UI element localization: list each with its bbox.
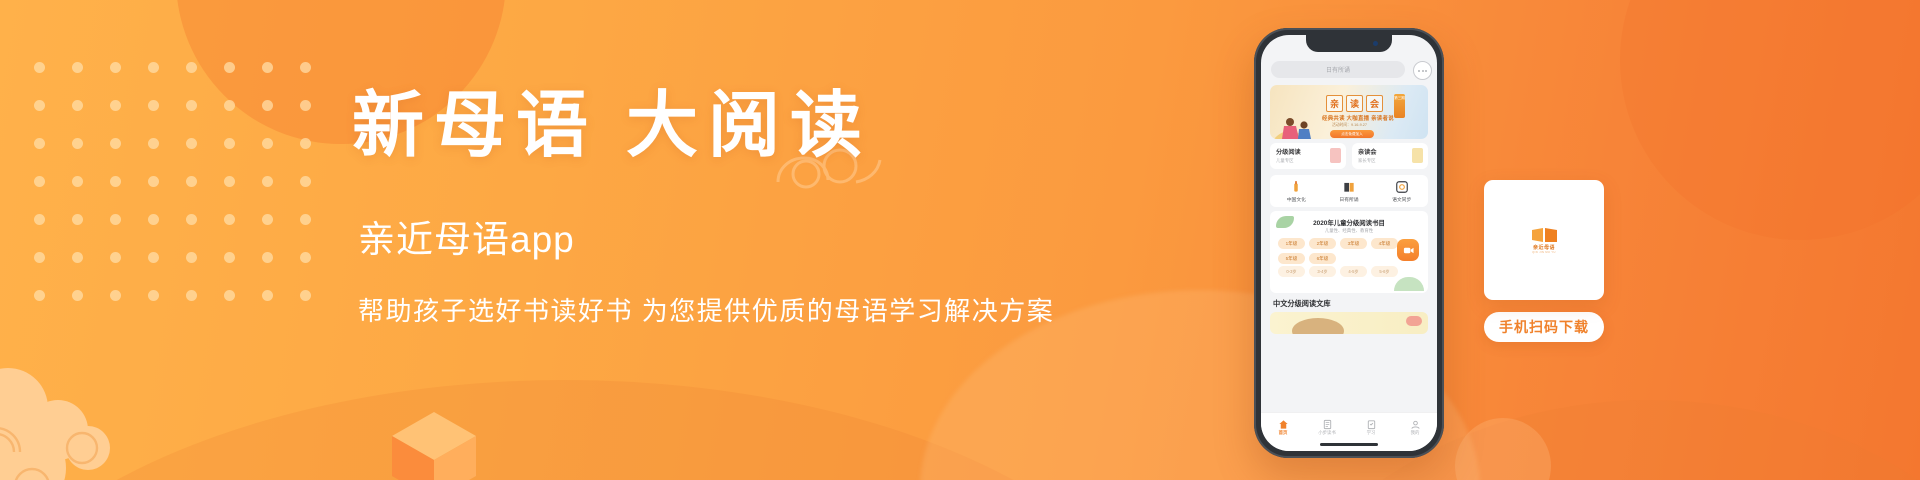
dot-grid-pattern <box>34 62 338 328</box>
age-chip[interactable]: 0-3岁 <box>1278 266 1305 277</box>
booklist-title: 2020年儿童分级阅读书目 <box>1270 218 1428 227</box>
library-card[interactable] <box>1270 312 1428 334</box>
grid-dot <box>186 138 197 149</box>
hero-title-char: 会 <box>1366 95 1383 112</box>
play-video-button[interactable] <box>1397 239 1419 261</box>
feature-shortcut-label: 日有所诵 <box>1323 196 1376 203</box>
qr-logo-name: 亲近母语 <box>1533 244 1555 251</box>
grid-dot <box>262 290 273 301</box>
more-options-icon[interactable] <box>1413 61 1432 80</box>
phone-notch <box>1306 35 1392 52</box>
hero-banner[interactable]: 亲读会 第三期 经典共读 大咖直播 亲读者说 活动时间：9.16-9.27 点击… <box>1270 85 1428 139</box>
grid-dot <box>300 100 311 111</box>
feature-shortcut-label: 语文同步 <box>1375 196 1428 203</box>
grid-dot <box>72 62 83 73</box>
app-name: 亲近母语app <box>358 209 1052 263</box>
grid-dot <box>148 252 159 263</box>
grid-dot <box>34 252 45 263</box>
home-icon <box>1278 417 1289 428</box>
grid-dot <box>72 100 83 111</box>
tab-book[interactable]: 小步读书 <box>1305 417 1349 436</box>
tab-label: 首页 <box>1261 430 1305 436</box>
circle-decoration-right <box>1620 0 1920 240</box>
hero-subtitle: 经典共读 大咖直播 亲读者说 <box>1322 114 1394 122</box>
grid-dot <box>262 176 273 187</box>
download-button[interactable]: 手机扫码下载 <box>1484 312 1604 342</box>
grid-dot <box>110 214 121 225</box>
age-chip[interactable]: 5-6岁 <box>1371 266 1398 277</box>
grid-dot <box>148 176 159 187</box>
home-indicator <box>1320 443 1378 446</box>
grid-dot <box>148 100 159 111</box>
book-icon <box>1342 180 1356 194</box>
book-icon <box>1322 417 1333 428</box>
grid-dot <box>300 252 311 263</box>
user-icon <box>1410 417 1421 428</box>
grid-dot <box>34 176 45 187</box>
grid-dot <box>34 62 45 73</box>
qr-code[interactable]: 亲近母语 QIN JIN MU YU <box>1484 180 1604 300</box>
feature-shortcut[interactable]: 日有所诵 <box>1323 180 1376 203</box>
grid-dot <box>186 252 197 263</box>
grid-dot <box>110 62 121 73</box>
hero-title-char: 亲 <box>1326 95 1343 112</box>
tab-label: 我的 <box>1393 430 1437 436</box>
grade-chip[interactable]: 5年级 <box>1278 253 1305 264</box>
library-title: 中文分级阅读文库 <box>1273 299 1331 309</box>
grid-dot <box>34 214 45 225</box>
cube-decoration <box>386 404 482 480</box>
grid-dot <box>110 252 121 263</box>
category-card[interactable]: 分级阅读儿童专区 <box>1270 143 1346 169</box>
qr-download-block: 亲近母语 QIN JIN MU YU 手机扫码下载 <box>1484 180 1604 342</box>
copy-block: 新母语 大阅读 亲近母语app 帮助孩子选好书读好书 为您提供优质的母语学习解决… <box>352 86 1052 328</box>
booklist-card: 2020年儿童分级阅读书目 儿童性、经典性、教育性 1年级2年级3年级4年级5年… <box>1270 211 1428 293</box>
grid-dot <box>72 290 83 301</box>
feature-shortcuts: 中国文化日有所诵语文同步 <box>1270 175 1428 207</box>
grid-dot <box>186 290 197 301</box>
book-icon <box>1330 148 1341 163</box>
grid-dot <box>300 138 311 149</box>
grid-dot <box>110 138 121 149</box>
grid-dot <box>224 138 235 149</box>
camera-icon <box>1373 41 1378 46</box>
grid-dot <box>300 214 311 225</box>
qr-center-logo: 亲近母语 QIN JIN MU YU <box>1525 221 1563 259</box>
tagline: 帮助孩子选好书读好书 为您提供优质的母语学习解决方案 <box>358 291 1052 328</box>
grid-dot <box>34 290 45 301</box>
library-pill <box>1406 316 1422 326</box>
page-title: 新母语 大阅读 <box>352 86 1052 167</box>
kids-illustration <box>1274 109 1326 139</box>
grid-dot <box>34 100 45 111</box>
phone-mockup: 日有所诵 亲读会 第三期 经典共读 大咖直播 亲读者说 活动时间：9.16-9.… <box>1254 28 1444 458</box>
grid-dot <box>148 138 159 149</box>
category-cards: 分级阅读儿童专区亲读会家长专区 <box>1270 143 1428 169</box>
grid-dot <box>72 214 83 225</box>
grid-dot <box>224 252 235 263</box>
grid-dot <box>262 252 273 263</box>
promo-banner: 新母语 大阅读 亲近母语app 帮助孩子选好书读好书 为您提供优质的母语学习解决… <box>0 0 1920 480</box>
grid-dot <box>34 138 45 149</box>
library-arc <box>1292 318 1344 334</box>
qr-logo-pinyin: QIN JIN MU YU <box>1532 251 1555 254</box>
grid-dot <box>300 62 311 73</box>
book-logo-icon <box>1531 227 1558 243</box>
grid-dot <box>110 100 121 111</box>
bottle-icon <box>1289 180 1303 194</box>
hero-title: 亲读会 <box>1326 95 1383 112</box>
search-input[interactable]: 日有所诵 <box>1271 61 1405 78</box>
grid-dot <box>148 290 159 301</box>
tab-label: 学习 <box>1349 430 1393 436</box>
age-chip[interactable]: 4-5岁 <box>1340 266 1367 277</box>
grid-dot <box>300 176 311 187</box>
video-icon <box>1403 245 1414 256</box>
category-card[interactable]: 亲读会家长专区 <box>1352 143 1428 169</box>
booklist-subtitle: 儿童性、经典性、教育性 <box>1270 228 1428 234</box>
feature-shortcut-label: 中国文化 <box>1270 196 1323 203</box>
grid-dot <box>110 290 121 301</box>
feature-shortcut[interactable]: 中国文化 <box>1270 180 1323 203</box>
grid-dot <box>224 290 235 301</box>
grid-dot <box>110 176 121 187</box>
circle-icon <box>1395 180 1409 194</box>
hero-date: 活动时间：9.16-9.27 <box>1332 123 1367 128</box>
grid-dot <box>148 62 159 73</box>
hero-title-char: 读 <box>1346 95 1363 112</box>
grid-dot <box>224 176 235 187</box>
book-icon <box>1412 148 1423 163</box>
clipboard-icon <box>1366 417 1377 428</box>
circle-decoration-bottom <box>1455 418 1551 480</box>
grid-dot <box>186 100 197 111</box>
grid-dot <box>224 62 235 73</box>
hero-flag: 第三期 <box>1394 94 1405 118</box>
hero-cta-button[interactable]: 点击免费加入 <box>1330 130 1374 138</box>
grid-dot <box>72 138 83 149</box>
grid-dot <box>186 62 197 73</box>
grid-dot <box>72 176 83 187</box>
grid-dot <box>262 138 273 149</box>
grid-dot <box>72 252 83 263</box>
phone-screen: 日有所诵 亲读会 第三期 经典共读 大咖直播 亲读者说 活动时间：9.16-9.… <box>1261 35 1437 451</box>
grade-chip[interactable]: 4年级 <box>1371 238 1398 249</box>
tab-home[interactable]: 首页 <box>1261 417 1305 436</box>
age-chip-group: 0-3岁3-4岁4-5岁5-6岁 <box>1278 266 1424 277</box>
hill-shape-left <box>0 380 1190 480</box>
grid-dot <box>262 62 273 73</box>
grid-dot <box>224 214 235 225</box>
grade-chip[interactable]: 6年级 <box>1309 253 1336 264</box>
tab-clipboard[interactable]: 学习 <box>1349 417 1393 436</box>
grade-chip[interactable]: 2年级 <box>1309 238 1336 249</box>
grade-chip[interactable]: 1年级 <box>1278 238 1305 249</box>
grid-dot <box>262 100 273 111</box>
leaf-icon-2 <box>1394 277 1424 291</box>
cloud-icon-bottom-left <box>0 356 172 480</box>
grade-chip[interactable]: 3年级 <box>1340 238 1367 249</box>
grid-dot <box>186 214 197 225</box>
grid-dot <box>148 214 159 225</box>
grid-dot <box>224 100 235 111</box>
grid-dot <box>186 176 197 187</box>
grid-dot <box>262 214 273 225</box>
age-chip[interactable]: 3-4岁 <box>1309 266 1336 277</box>
grade-chip-group: 1年级2年级3年级4年级5年级6年级 <box>1278 238 1398 264</box>
tab-user[interactable]: 我的 <box>1393 417 1437 436</box>
tab-label: 小步读书 <box>1305 430 1349 436</box>
grid-dot <box>300 290 311 301</box>
feature-shortcut[interactable]: 语文同步 <box>1375 180 1428 203</box>
